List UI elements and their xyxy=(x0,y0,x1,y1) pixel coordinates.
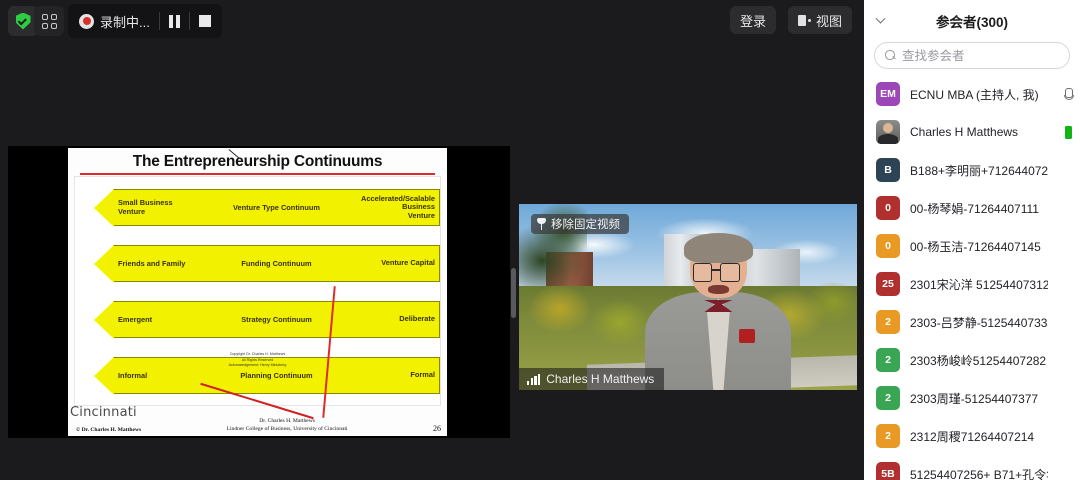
login-label: 登录 xyxy=(740,11,766,30)
participant-status xyxy=(1058,88,1072,101)
slide-page-number: 26 xyxy=(433,424,441,433)
participant-name: 2303-吕梦静-51254407335 xyxy=(910,314,1048,331)
speaker-video-tile[interactable]: 移除固定视频 Charles H Matthews xyxy=(519,204,857,390)
title-underline xyxy=(80,173,435,175)
participants-header: 参会者(300) xyxy=(864,0,1080,42)
login-button[interactable]: 登录 xyxy=(730,6,776,34)
participant-row[interactable]: EMECNU MBA (主持人, 我) xyxy=(864,75,1080,113)
participant-name: 2303周瑾-51254407377 xyxy=(910,390,1048,407)
participant-row[interactable]: 252301宋沁洋 51254407312 xyxy=(864,265,1080,303)
participant-name: B188+李明丽+71264407209 xyxy=(910,162,1048,179)
participant-row[interactable]: 22303-吕梦静-51254407335 xyxy=(864,303,1080,341)
grid-glyph xyxy=(42,14,57,29)
recording-status: 录制中... xyxy=(70,4,159,38)
shield-glyph xyxy=(16,13,31,30)
slide-footer: © Dr. Charles H. Matthews Dr. Charles H.… xyxy=(76,418,441,433)
grid-apps-icon[interactable] xyxy=(34,6,64,36)
speaker-name: Charles H Matthews xyxy=(546,372,654,386)
participant-name: 2312周稷71264407214 xyxy=(910,428,1048,445)
participant-status xyxy=(1058,126,1072,139)
pause-icon xyxy=(169,15,180,28)
row-right-label: Deliberate xyxy=(399,315,435,324)
participants-title: 参会者(300) xyxy=(936,11,1008,31)
participant-row[interactable]: 000-杨玉洁-71264407145 xyxy=(864,227,1080,265)
participant-name: 00-杨玉洁-71264407145 xyxy=(910,238,1048,255)
audio-bars-icon xyxy=(527,374,540,385)
avatar: 2 xyxy=(876,348,900,372)
recording-label: 录制中... xyxy=(100,12,150,31)
participant-row[interactable]: 5B51254407256+ B71+孔令华 xyxy=(864,455,1080,480)
participant-row[interactable]: 22303杨峻岭51254407282 xyxy=(864,341,1080,379)
participant-name: 2301宋沁洋 51254407312 xyxy=(910,276,1048,293)
avatar: 2 xyxy=(876,310,900,334)
row-center-label: Planning Continuum xyxy=(114,371,439,380)
pause-recording-button[interactable] xyxy=(160,4,189,38)
slide-title: The Entrepreneurship Continuums xyxy=(74,152,441,171)
layout-view-icon xyxy=(798,15,811,26)
chevron-down-icon[interactable] xyxy=(872,13,888,29)
view-label: 视图 xyxy=(816,11,842,30)
participants-search xyxy=(864,42,1080,69)
search-box[interactable] xyxy=(874,42,1070,69)
participant-row[interactable]: 000-杨琴娟-71264407111 xyxy=(864,189,1080,227)
meeting-stage: 录制中... 登录 视图 xyxy=(0,0,864,480)
avatar: 0 xyxy=(876,234,900,258)
speaker-figure xyxy=(668,237,769,390)
record-dot-icon xyxy=(79,14,94,29)
continuum-row: Small BusinessVenture Venture Type Conti… xyxy=(113,189,440,226)
participant-name: 2303杨峻岭51254407282 xyxy=(910,352,1048,369)
stop-recording-button[interactable] xyxy=(190,4,220,38)
row-right-label: Venture Capital xyxy=(381,259,435,268)
participant-row[interactable]: 22312周稷71264407214 xyxy=(864,417,1080,455)
participant-row[interactable]: BB188+李明丽+71264407209 xyxy=(864,151,1080,189)
stop-icon xyxy=(199,15,211,27)
unpin-video-label: 移除固定视频 xyxy=(551,216,620,232)
avatar: B xyxy=(876,158,900,182)
share-scrollbar[interactable] xyxy=(511,268,516,318)
avatar xyxy=(876,120,900,144)
participant-row[interactable]: 22303周瑾-51254407377 xyxy=(864,379,1080,417)
row-right-label: Formal xyxy=(410,371,435,380)
avatar: 0 xyxy=(876,196,900,220)
pin-icon xyxy=(537,218,546,230)
continuum-row: Friends and Family Funding Continuum Ven… xyxy=(113,245,440,282)
slide-content: The Entrepreneurship Continuums Small Bu… xyxy=(68,148,447,436)
participant-name: Charles H Matthews xyxy=(910,125,1048,139)
participants-list[interactable]: EMECNU MBA (主持人, 我)Charles H MatthewsBB1… xyxy=(864,75,1080,480)
participant-name: 51254407256+ B71+孔令华 xyxy=(910,466,1048,480)
search-input[interactable] xyxy=(902,49,1059,63)
participant-row[interactable]: Charles H Matthews xyxy=(864,113,1080,151)
unpin-video-button[interactable]: 移除固定视频 xyxy=(531,214,629,234)
zoom-meeting-window: 录制中... 登录 视图 xyxy=(0,0,1080,480)
search-icon xyxy=(885,50,896,61)
top-toolbar: 录制中... 登录 视图 xyxy=(0,0,864,42)
view-button[interactable]: 视图 xyxy=(788,6,852,34)
footer-copyright: © Dr. Charles H. Matthews xyxy=(76,427,141,433)
audio-active-icon xyxy=(1065,126,1072,139)
speaker-name-badge: Charles H Matthews xyxy=(519,368,664,390)
row-center-label: Strategy Continuum xyxy=(114,315,439,324)
row-right-label: Accelerated/ScalableBusinessVenture xyxy=(361,195,435,221)
avatar: EM xyxy=(876,82,900,106)
shared-screen-region[interactable]: The Entrepreneurship Continuums Small Bu… xyxy=(8,146,510,438)
recording-controls: 录制中... xyxy=(68,4,222,38)
continuum-row: Emergent Strategy Continuum Deliberate xyxy=(113,301,440,338)
slide-copyright: Copyright Dr. Charles H. MatthewsAll Rig… xyxy=(75,352,440,369)
slide-body: Small BusinessVenture Venture Type Conti… xyxy=(74,176,441,406)
avatar: 2 xyxy=(876,424,900,448)
participants-panel: 参会者(300) EMECNU MBA (主持人, 我)Charles H Ma… xyxy=(864,0,1080,480)
mic-muted-icon xyxy=(1063,88,1072,101)
participant-name: 00-杨琴娟-71264407111 xyxy=(910,200,1048,217)
avatar: 2 xyxy=(876,386,900,410)
avatar: 5B xyxy=(876,462,900,480)
avatar: 25 xyxy=(876,272,900,296)
footer-attribution: Dr. Charles H. MatthewsLindner College o… xyxy=(227,418,348,433)
participant-name: ECNU MBA (主持人, 我) xyxy=(910,86,1048,103)
presentation-slide: The Entrepreneurship Continuums Small Bu… xyxy=(68,148,447,436)
